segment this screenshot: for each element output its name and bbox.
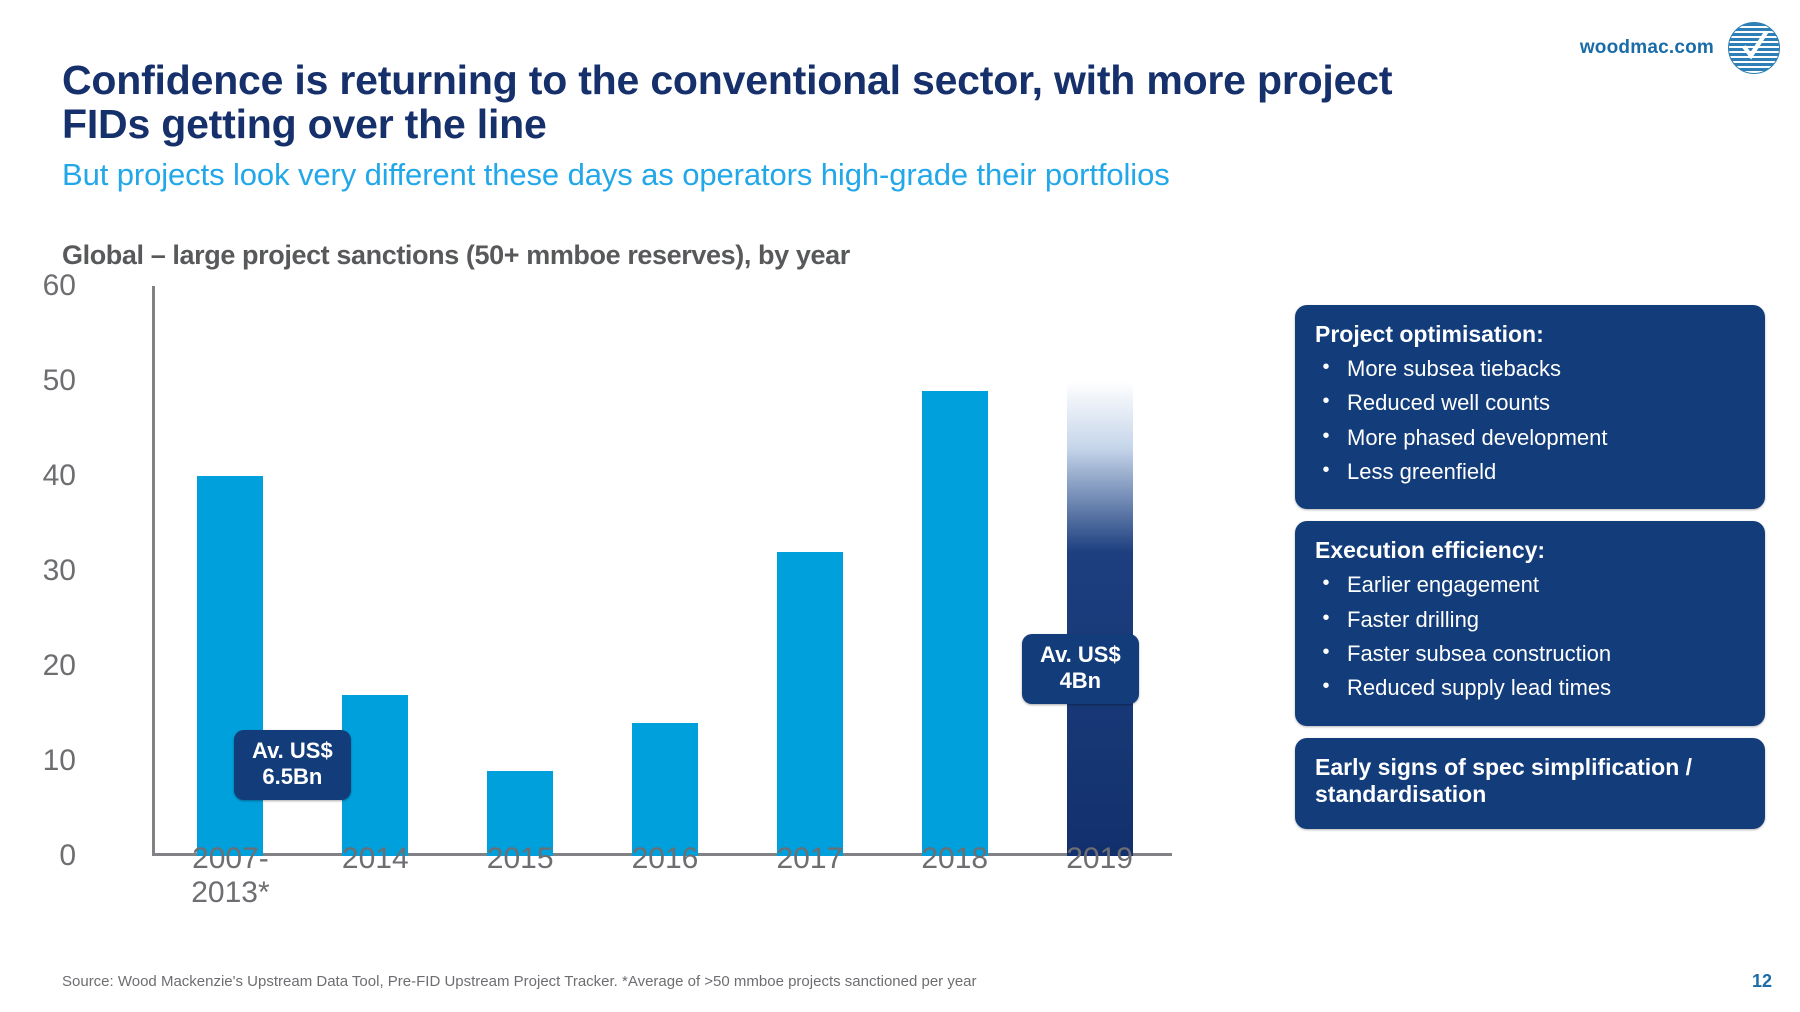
check-tick-shape (1729, 23, 1779, 73)
bar-slot-2018 (882, 286, 1027, 856)
list-item-label: More subsea tiebacks (1347, 352, 1561, 386)
panel-project-optimisation: Project optimisation: •More subsea tieba… (1295, 305, 1765, 509)
y-axis-tick-60: 60 (6, 269, 76, 303)
y-axis-tick-0: 0 (6, 839, 76, 873)
x-axis-tick-2016: 2016 (593, 842, 738, 910)
bullet-icon: • (1315, 671, 1337, 705)
bar-slot-2019 (1027, 286, 1172, 856)
callout-line-1: Av. US$ (1040, 642, 1121, 668)
x-axis-tick-labels: 2007-2013*201420152016201720182019 (158, 842, 1172, 910)
list-item: •Reduced well counts (1315, 386, 1745, 420)
callout-average-2018: Av. US$ 4Bn (1022, 634, 1139, 704)
x-axis-tick-2015: 2015 (448, 842, 593, 910)
list-item-label: Faster drilling (1347, 603, 1479, 637)
page-number: 12 (1752, 971, 1772, 992)
bar-2018[interactable] (922, 391, 988, 857)
bar-slot-2016 (593, 286, 738, 856)
chart-heading: Global – large project sanctions (50+ mm… (62, 240, 850, 271)
list-item: •Less greenfield (1315, 455, 1745, 489)
panel-list: •Earlier engagement •Faster drilling •Fa… (1315, 568, 1745, 705)
bullet-icon: • (1315, 637, 1337, 671)
list-item-label: Reduced well counts (1347, 386, 1550, 420)
bullet-icon: • (1315, 568, 1337, 602)
callout-line-2: 6.5Bn (252, 764, 333, 790)
x-axis-tick-2017: 2017 (737, 842, 882, 910)
x-axis-tick-2018: 2018 (882, 842, 1027, 910)
bar-2016[interactable] (632, 723, 698, 856)
panel-spec-simplification: Early signs of spec simplification / sta… (1295, 738, 1765, 829)
y-axis-tick-40: 40 (6, 459, 76, 493)
bar-2019[interactable] (1067, 381, 1133, 856)
y-axis-line (152, 286, 155, 856)
list-item-label: More phased development (1347, 421, 1608, 455)
y-axis-tick-20: 20 (6, 649, 76, 683)
insight-panels: Project optimisation: •More subsea tieba… (1295, 305, 1765, 841)
bar-chart: 0102030405060 2007-2013*2014201520162017… (62, 278, 1292, 918)
x-axis-tick-2019: 2019 (1027, 842, 1172, 910)
page-subtitle: But projects look very different these d… (62, 158, 1562, 193)
x-axis-tick-2007-2013*: 2007-2013* (158, 842, 303, 910)
x-axis-tick-2014: 2014 (303, 842, 448, 910)
list-item: •Reduced supply lead times (1315, 671, 1745, 705)
list-item: •Faster subsea construction (1315, 637, 1745, 671)
list-item: •Faster drilling (1315, 603, 1745, 637)
y-axis-tick-50: 50 (6, 364, 76, 398)
callout-line-2: 4Bn (1040, 668, 1121, 694)
bar-2017[interactable] (777, 552, 843, 856)
callout-line-1: Av. US$ (252, 738, 333, 764)
woodmac-globe-tick-logo-icon (1728, 22, 1780, 74)
y-axis-tick-30: 30 (6, 554, 76, 588)
y-axis-tick-10: 10 (6, 744, 76, 778)
bullet-icon: • (1315, 455, 1337, 489)
panel-heading: Execution efficiency: (1315, 537, 1745, 564)
list-item-label: Earlier engagement (1347, 568, 1539, 602)
panel-list: •More subsea tiebacks •Reduced well coun… (1315, 352, 1745, 489)
list-item: •More subsea tiebacks (1315, 352, 1745, 386)
brand-bar: woodmac.com (1580, 22, 1780, 74)
page-title: Confidence is returning to the conventio… (62, 58, 1482, 147)
bar-slot-2017 (737, 286, 882, 856)
list-item-label: Faster subsea construction (1347, 637, 1611, 671)
bullet-icon: • (1315, 386, 1337, 420)
bullet-icon: • (1315, 352, 1337, 386)
panel-execution-efficiency: Execution efficiency: •Earlier engagemen… (1295, 521, 1765, 725)
list-item: •More phased development (1315, 421, 1745, 455)
list-item-label: Less greenfield (1347, 455, 1496, 489)
bar-2014[interactable] (342, 695, 408, 857)
panel-heading: Project optimisation: (1315, 321, 1745, 348)
bar-slot-2015 (448, 286, 593, 856)
list-item: •Earlier engagement (1315, 568, 1745, 602)
source-note: Source: Wood Mackenzie's Upstream Data T… (62, 973, 977, 990)
panel-heading: Early signs of spec simplification / sta… (1315, 754, 1745, 809)
bullet-icon: • (1315, 421, 1337, 455)
bullet-icon: • (1315, 603, 1337, 637)
list-item-label: Reduced supply lead times (1347, 671, 1611, 705)
callout-average-2007-2013: Av. US$ 6.5Bn (234, 730, 351, 800)
brand-site-label: woodmac.com (1580, 37, 1714, 59)
